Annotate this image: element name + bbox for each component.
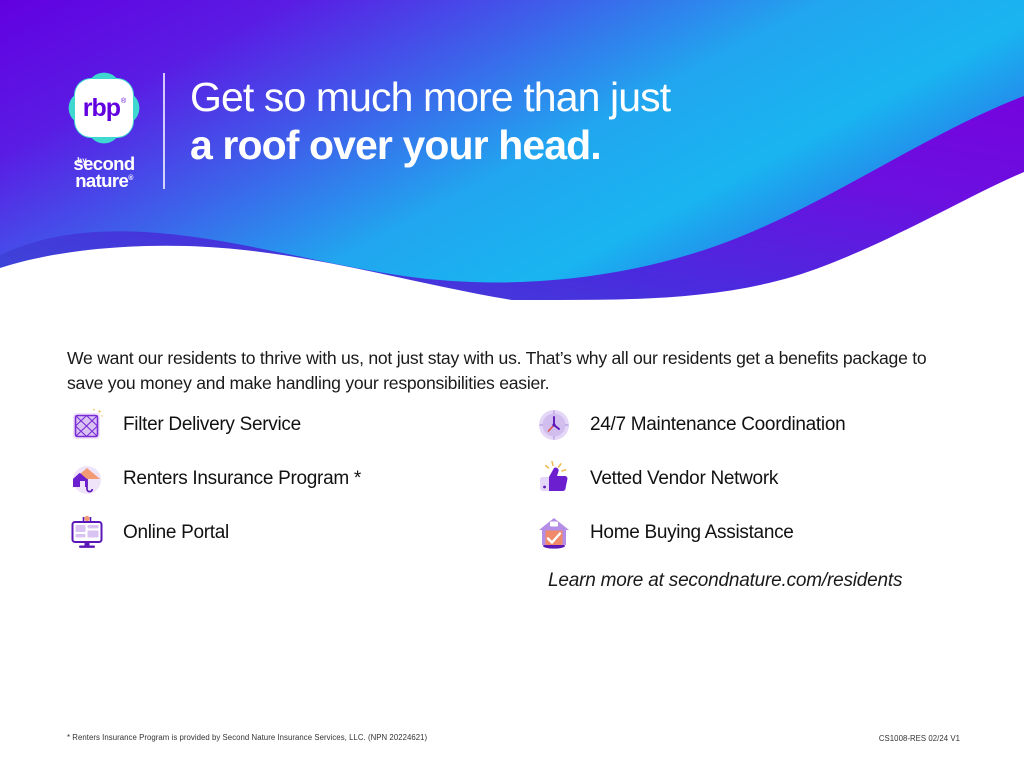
logo-by-text: by	[77, 156, 87, 165]
benefit-label: Vetted Vendor Network	[590, 468, 778, 490]
rbp-logo-icon: rbp®	[66, 70, 142, 146]
filter-icon	[67, 405, 107, 445]
logo-divider	[163, 73, 165, 189]
learn-more-text: Learn more at secondnature.com/residents	[548, 570, 902, 592]
benefit-label: Online Portal	[123, 522, 229, 544]
benefit-label: Renters Insurance Program *	[123, 468, 361, 490]
headline-line-2: a roof over your head.	[190, 121, 670, 169]
rbp-registered-mark: ®	[121, 98, 126, 105]
benefits-column-right: 24/7 Maintenance Coordination Vetted Ven…	[534, 398, 974, 560]
monitor-icon	[67, 513, 107, 553]
rbp-wordmark: rbp	[83, 94, 120, 123]
thumbs-up-icon	[534, 459, 574, 499]
headline-line-1: Get so much more than just	[190, 73, 670, 121]
logo-registered-mark: ®	[128, 174, 133, 181]
benefit-label: 24/7 Maintenance Coordination	[590, 414, 845, 436]
brand-logo: rbp® by second nature®	[58, 70, 150, 192]
benefit-renters-insurance-program: Renters Insurance Program *	[67, 452, 537, 506]
benefit-filter-delivery-service: Filter Delivery Service	[67, 398, 537, 452]
by-second-nature-lockup: by second nature®	[58, 148, 150, 190]
benefit-label: Home Buying Assistance	[590, 522, 794, 544]
footer-disclaimer: * Renters Insurance Program is provided …	[67, 733, 427, 742]
benefit-label: Filter Delivery Service	[123, 414, 301, 436]
benefit-vetted-vendor-network: Vetted Vendor Network	[534, 452, 974, 506]
benefit-online-portal: Online Portal	[67, 506, 537, 560]
house-check-icon	[534, 513, 574, 553]
benefits-column-left: Filter Delivery Service Renters Insuranc…	[67, 398, 537, 560]
umbrella-house-icon	[67, 459, 107, 499]
benefit-maintenance-coordination: 24/7 Maintenance Coordination	[534, 398, 974, 452]
headline: Get so much more than just a roof over y…	[190, 73, 670, 170]
clock-icon	[534, 405, 574, 445]
footer-doc-code: CS1008-RES 02/24 V1	[879, 734, 960, 743]
logo-nature-text: nature	[75, 170, 128, 191]
header-banner: rbp® by second nature® Get so much more …	[0, 0, 1024, 300]
benefit-home-buying-assistance: Home Buying Assistance	[534, 506, 974, 560]
intro-paragraph: We want our residents to thrive with us,…	[67, 346, 947, 396]
